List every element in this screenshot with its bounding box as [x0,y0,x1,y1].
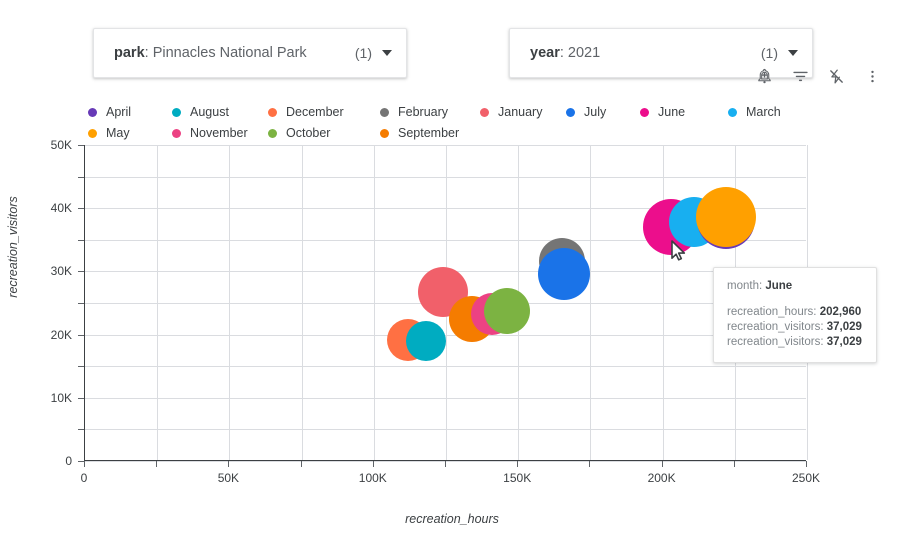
chart-legend: AprilAugustDecemberFebruaryJanuaryJulyJu… [88,103,818,139]
tooltip-header-value: June [765,280,792,292]
year-filter-count: (1) [761,45,778,61]
chart-toolbar [746,62,892,90]
legend-item-june[interactable]: June [640,103,685,121]
y-tick-mark [78,398,84,399]
legend-label: November [190,126,248,140]
x-tick-label: 100K [359,471,387,485]
legend-swatch-icon [480,108,489,117]
legend-label: August [190,105,229,119]
legend-swatch-icon [640,108,649,117]
park-filter-count: (1) [355,45,372,61]
legend-swatch-icon [728,108,737,117]
legend-item-august[interactable]: August [172,103,229,121]
legend-item-march[interactable]: March [728,103,781,121]
legend-swatch-icon [172,108,181,117]
x-tick-mark [84,461,85,467]
x-tick-label: 0 [81,471,88,485]
park-filter-separator: : [145,45,153,61]
tooltip-spacer [727,294,863,305]
x-tick-mark [734,461,735,467]
legend-label: January [498,105,542,119]
tooltip-metric-key: recreation_hours: [727,306,820,318]
y-tick-label: 40K [0,201,72,215]
bubble-october[interactable] [484,288,530,334]
tooltip-metric-value: 202,960 [820,306,862,318]
x-tick-label: 250K [792,471,820,485]
legend-label: April [106,105,131,119]
chevron-down-icon[interactable] [788,50,798,56]
bubble-may[interactable] [696,187,756,247]
year-filter-text: year: 2021 [530,45,761,61]
x-tick-mark [806,461,807,467]
legend-label: February [398,105,448,119]
gridline-vertical [302,145,303,460]
y-tick-mark [78,303,84,304]
y-tick-mark [78,240,84,241]
x-tick-label: 50K [218,471,239,485]
legend-label: July [584,105,606,119]
x-tick-mark [228,461,229,467]
gridline-vertical [590,145,591,460]
legend-swatch-icon [380,108,389,117]
legend-swatch-icon [88,129,97,138]
tooltip-metric-value: 37,029 [827,336,862,348]
gridline-vertical [229,145,230,460]
x-axis-title: recreation_hours [0,512,904,526]
legend-label: June [658,105,685,119]
y-tick-mark [78,429,84,430]
tooltip-metric: recreation_visitors: 37,029 [727,335,863,350]
legend-item-december[interactable]: December [268,103,344,121]
legend-item-july[interactable]: July [566,103,606,121]
legend-label: October [286,126,330,140]
y-tick-label: 20K [0,328,72,342]
tooltip-header: month: June [727,279,863,294]
tooltip-metric-value: 37,029 [827,321,862,333]
x-axis-ticks: 050K100K150K200K250K [84,461,806,491]
x-tick-mark [156,461,157,467]
legend-swatch-icon [172,129,181,138]
tooltip-metric: recreation_visitors: 37,029 [727,320,863,335]
year-filter-value: 2021 [568,45,600,61]
plot-area[interactable] [84,145,806,461]
y-tick-label: 30K [0,264,72,278]
legend-swatch-icon [566,108,575,117]
y-axis-title: recreation_visitors [6,172,20,322]
x-tick-mark [301,461,302,467]
lightning-off-icon[interactable] [818,62,854,90]
legend-label: December [286,105,344,119]
legend-swatch-icon [380,129,389,138]
park-filter-text: park: Pinnacles National Park [114,45,355,61]
legend-swatch-icon [88,108,97,117]
park-filter-key: park [114,45,145,61]
y-tick-mark [78,335,84,336]
x-tick-mark [662,461,663,467]
y-tick-mark [78,145,84,146]
year-filter-key: year [530,45,560,61]
tooltip-metric: recreation_hours: 202,960 [727,305,863,320]
y-tick-label: 0 [0,454,72,468]
x-tick-mark [589,461,590,467]
legend-swatch-icon [268,129,277,138]
add-alert-icon[interactable] [746,62,782,90]
year-filter-separator: : [560,45,568,61]
y-tick-mark [78,208,84,209]
legend-swatch-icon [268,108,277,117]
y-tick-label: 50K [0,138,72,152]
tooltip-metric-key: recreation_visitors: [727,321,827,333]
tooltip-metrics: recreation_hours: 202,960recreation_visi… [727,305,863,350]
legend-item-april[interactable]: April [88,103,131,121]
gridline-vertical [663,145,664,460]
y-tick-label: 10K [0,391,72,405]
y-tick-mark [78,366,84,367]
y-tick-mark [78,177,84,178]
x-tick-mark [373,461,374,467]
legend-item-january[interactable]: January [480,103,542,121]
gridline-vertical [374,145,375,460]
x-tick-mark [445,461,446,467]
legend-row: AprilAugustDecemberFebruaryJanuaryJulyJu… [88,103,818,121]
y-tick-mark [78,271,84,272]
legend-item-february[interactable]: February [380,103,448,121]
mouse-cursor-icon [671,240,687,267]
chart-tooltip: month: June recreation_hours: 202,960rec… [713,267,877,363]
legend-label: March [746,105,781,119]
park-filter-chip[interactable]: park: Pinnacles National Park (1) [93,28,407,78]
gridline-vertical [157,145,158,460]
park-filter-value: Pinnacles National Park [153,45,307,61]
tooltip-header-key: month [727,280,759,292]
more-vert-icon[interactable] [854,62,890,90]
legend-label: September [398,126,459,140]
chevron-down-icon[interactable] [382,50,392,56]
x-tick-label: 200K [648,471,676,485]
bubble-july[interactable] [538,248,590,300]
x-tick-label: 150K [503,471,531,485]
legend-label: May [106,126,130,140]
y-tick-mark [78,461,84,462]
x-tick-mark [517,461,518,467]
filter-icon[interactable] [782,62,818,90]
bubble-august[interactable] [406,321,446,361]
tooltip-metric-key: recreation_visitors: [727,336,827,348]
